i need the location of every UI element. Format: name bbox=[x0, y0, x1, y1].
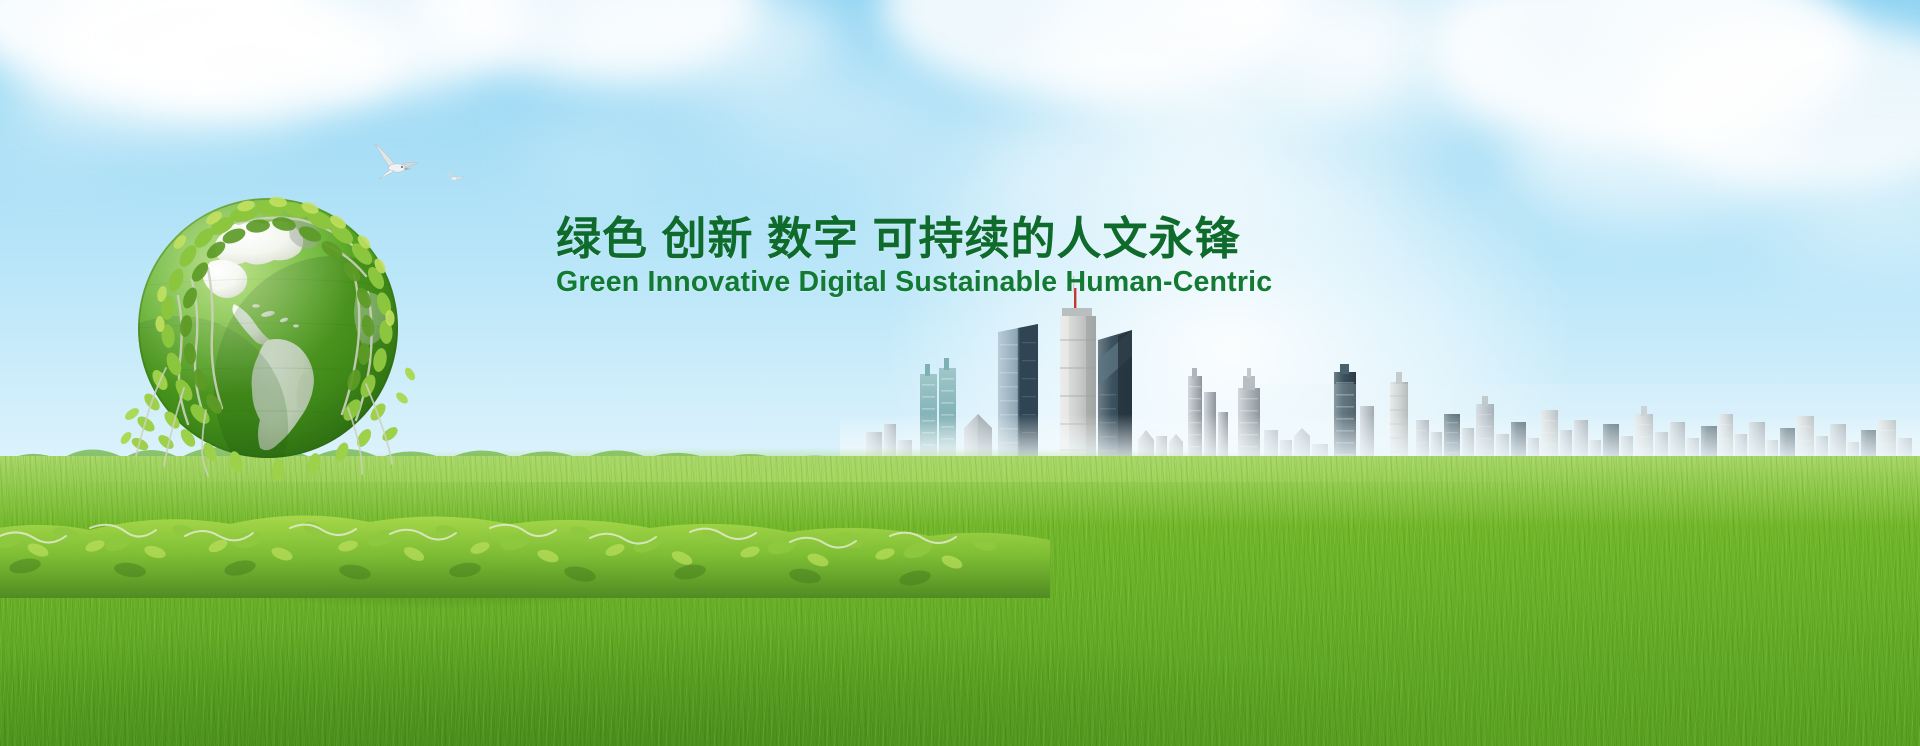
page-subtitle: Green Innovative Digital Sustainable Hum… bbox=[556, 266, 1286, 299]
cloud-icon bbox=[1500, 90, 1800, 220]
cloud-icon bbox=[700, 60, 960, 160]
cloud-icon bbox=[520, 120, 680, 175]
seagull-small-icon bbox=[444, 170, 466, 184]
hero-text-block: 绿色 创新 数字 可持续的人文永锋 Green Innovative Digit… bbox=[556, 214, 1286, 299]
cloud-icon bbox=[1290, 40, 1530, 140]
page-title: 绿色 创新 数字 可持续的人文永锋 bbox=[556, 214, 1286, 264]
banner-hero: 绿色 创新 数字 可持续的人文永锋 Green Innovative Digit… bbox=[0, 0, 1920, 746]
leaf-carpet bbox=[0, 488, 1050, 598]
cloud-icon bbox=[120, 70, 300, 140]
globe-with-leaves bbox=[118, 176, 418, 486]
